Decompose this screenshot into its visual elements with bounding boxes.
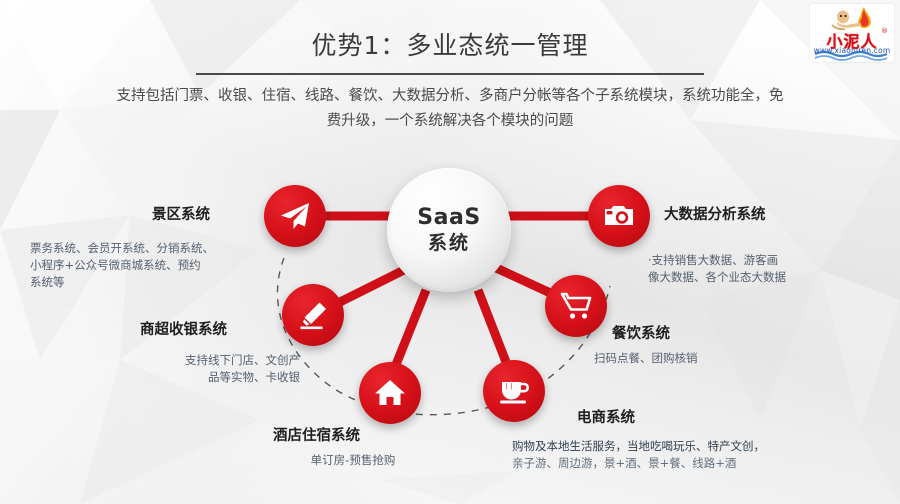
- node-scenic-system[interactable]: [264, 185, 326, 247]
- node-catering-system[interactable]: [545, 275, 607, 337]
- hub-line2: 系统: [428, 231, 470, 255]
- node-ecommerce-system[interactable]: [483, 360, 545, 422]
- eraser-icon: [297, 299, 329, 331]
- home-icon: [374, 377, 406, 409]
- hub-saas-system: SaaS 系统: [387, 168, 511, 292]
- paper-plane-icon: [278, 199, 312, 233]
- shopping-cart-icon: [560, 290, 592, 322]
- node-retail-pos-system[interactable]: [282, 284, 344, 346]
- slide-canvas: 优势1：多业态统一管理 支持包括门票、收银、住宿、线路、餐饮、大数据分析、多商户…: [0, 0, 900, 504]
- camera-icon: [603, 200, 635, 232]
- hub-line1: SaaS: [417, 205, 480, 231]
- node-bigdata-system[interactable]: [588, 185, 650, 247]
- coffee-cup-icon: [498, 376, 530, 406]
- node-hotel-system[interactable]: [359, 362, 421, 424]
